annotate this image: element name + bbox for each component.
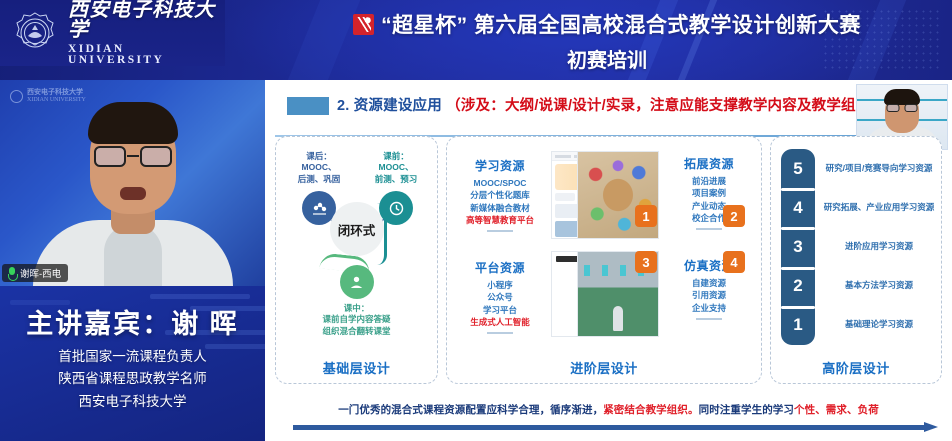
slide-header: 2. 资源建设应用 （涉及：大纲/说课/设计/实录，注意应能支撑教学内容及教学组… bbox=[265, 88, 952, 128]
top-banner: 西安电子科技大学 XIDIAN UNIVERSITY “超星杯” 第六届全国高校… bbox=[0, 0, 952, 80]
video-background-logo: 西安电子科技大学XIDIAN UNIVERSITY bbox=[10, 88, 86, 105]
speaker-lower-third: 主讲嘉宾：谢 晖 首批国家一流课程负责人 陕西省课程思政教学名师 西安电子科技大… bbox=[0, 286, 265, 441]
resource-group-items: 自建资源 引用资源 企业支持 bbox=[663, 277, 755, 314]
facecam-glasses-icon bbox=[887, 104, 918, 113]
level-number: 2 bbox=[781, 267, 815, 306]
resource-group-title: 学习资源 bbox=[453, 157, 547, 174]
university-seal-icon bbox=[12, 10, 58, 56]
footer-part-4: 个性、需求、负荷 bbox=[794, 404, 879, 416]
footer-arrow-icon bbox=[275, 423, 942, 431]
microphone-icon bbox=[7, 267, 16, 280]
thumbnail-badge: 1 bbox=[635, 205, 657, 227]
level-pyramid: 5 4 3 2 1 bbox=[781, 149, 815, 345]
slide-header-chip bbox=[287, 97, 329, 115]
screen: 西安电子科技大学 XIDIAN UNIVERSITY “超星杯” 第六届全国高校… bbox=[0, 0, 952, 441]
resource-divider bbox=[696, 228, 722, 230]
resource-grid: 学习资源 MOOC/SPOC 分层个性化题库 新媒体融合教材 高等智慧教育平台 … bbox=[453, 141, 755, 359]
thumbnail-badge: 2 bbox=[723, 205, 745, 227]
speaker-figure bbox=[33, 106, 233, 286]
event-title-line-1: “超星杯” 第六届全国高校混合式教学设计创新大赛 bbox=[353, 9, 861, 39]
resource-thumbnails: 1 2 3 4 bbox=[551, 147, 659, 359]
level-label: 进阶应用学习资源 bbox=[821, 241, 937, 251]
thumbnail-badge: 3 bbox=[635, 251, 657, 273]
slide-panels: 课后： MOOC、 后测、巩固 课前： MOOC、 前测、预习 bbox=[275, 136, 942, 384]
slide-footer: 一门优秀的混合式课程资源配置应科学合理，循序渐进，紧密结合教学组织。同时注重学生… bbox=[275, 402, 942, 431]
loop-label-during: 课中： 课前自学内容答疑 组织混合翻转课堂 bbox=[287, 303, 427, 337]
speaker-glasses-icon bbox=[94, 146, 172, 168]
clock-icon bbox=[379, 191, 413, 225]
panel-basic-label: 基础层设计 bbox=[276, 358, 437, 377]
presentation-slide[interactable]: 2. 资源建设应用 （涉及：大纲/说课/设计/实录，注意应能支撑教学内容及教学组… bbox=[265, 80, 952, 441]
university-name-en: XIDIAN UNIVERSITY bbox=[68, 44, 225, 67]
resource-divider bbox=[696, 318, 722, 320]
credential-line: 陕西省课程思政教学名师 bbox=[0, 368, 265, 390]
level-number: 3 bbox=[781, 227, 815, 266]
participant-name: 谢晖-西电 bbox=[20, 266, 61, 280]
resource-group-platform: 平台资源 小程序 公众号 学习平台 生成式人工智能 bbox=[453, 259, 547, 334]
panel-high-layer: 5 4 3 2 1 研究/项目/竞赛导向学习资源 研究拓展、产业应用学习资源 进… bbox=[770, 136, 942, 384]
panel-basic-layer: 课后： MOOC、 后测、巩固 课前： MOOC、 前测、预习 bbox=[275, 136, 438, 384]
speaker-mouth bbox=[120, 187, 146, 200]
level-label: 基础理论学习资源 bbox=[821, 319, 937, 329]
thumbnail-badge: 4 bbox=[723, 251, 745, 273]
university-name-group: 西安电子科技大学 XIDIAN UNIVERSITY bbox=[68, 0, 225, 67]
footer-part-2: 紧密结合教学组织。 bbox=[603, 404, 698, 416]
resource-divider bbox=[487, 332, 513, 334]
loop-label-before: 课前： MOOC、 前测、预习 bbox=[363, 151, 429, 185]
resource-divider bbox=[487, 230, 513, 232]
closed-loop-diagram: 课后： MOOC、 后测、巩固 课前： MOOC、 前测、预习 bbox=[276, 143, 437, 339]
footer-part-3: 同时注重学生的学习 bbox=[699, 404, 794, 416]
resource-highlight: 高等智慧教育平台 bbox=[453, 214, 547, 226]
speaker-panel: 西安电子科技大学XIDIAN UNIVERSITY 谢晖-西电 bbox=[0, 80, 265, 441]
level-number: 4 bbox=[781, 188, 815, 227]
panel-advanced-layer: 学习资源 MOOC/SPOC 分层个性化题库 新媒体融合教材 高等智慧教育平台 … bbox=[446, 136, 762, 384]
level-number: 5 bbox=[781, 149, 815, 188]
person-icon bbox=[340, 265, 374, 299]
slide-title: 2. 资源建设应用 （涉及：大纲/说课/设计/实录，注意应能支撑教学内容及教学组… bbox=[337, 94, 885, 115]
speaker-hair bbox=[88, 102, 178, 144]
event-title-sub: 初赛培训 bbox=[567, 44, 647, 73]
resource-group-items: 小程序 公众号 学习平台 生成式人工智能 bbox=[453, 279, 547, 328]
event-title-block: “超星杯” 第六届全国高校混合式教学设计创新大赛 初赛培训 bbox=[262, 6, 952, 76]
university-name-cn: 西安电子科技大学 bbox=[68, 0, 225, 40]
event-title-main: “超星杯” 第六届全国高校混合式教学设计创新大赛 bbox=[381, 9, 861, 39]
resource-group-items: MOOC/SPOC 分层个性化题库 新媒体融合教材 高等智慧教育平台 bbox=[453, 177, 547, 226]
resource-highlight: 生成式人工智能 bbox=[453, 316, 547, 328]
resource-group-learning: 学习资源 MOOC/SPOC 分层个性化题库 新媒体融合教材 高等智慧教育平台 bbox=[453, 157, 547, 232]
level-number: 1 bbox=[781, 306, 815, 345]
level-label: 研究拓展、产业应用学习资源 bbox=[821, 202, 937, 212]
resource-group-title: 平台资源 bbox=[453, 259, 547, 276]
credential-line: 西安电子科技大学 bbox=[0, 391, 265, 413]
speaker-video-feed[interactable]: 西安电子科技大学XIDIAN UNIVERSITY 谢晖-西电 bbox=[0, 80, 265, 286]
slide-title-note: （涉及：大纲/说课/设计/实录，注意应能支撑教学内容及教学组织） bbox=[446, 98, 885, 114]
slide-footer-text: 一门优秀的混合式课程资源配置应科学合理，循序渐进，紧密结合教学组织。同时注重学生… bbox=[275, 402, 942, 417]
slide-title-index: 2. 资源建设应用 bbox=[337, 98, 442, 114]
university-logo-block: 西安电子科技大学 XIDIAN UNIVERSITY bbox=[0, 0, 225, 66]
panel-high-label: 高阶层设计 bbox=[771, 358, 941, 377]
resource-group-title: 拓展资源 bbox=[663, 155, 755, 172]
loop-label-after: 课后： MOOC、 后测、巩固 bbox=[286, 151, 352, 185]
participant-name-chip: 谢晖-西电 bbox=[2, 264, 68, 282]
speaker-credentials: 首批国家一流课程负责人 陕西省课程思政教学名师 西安电子科技大学 bbox=[0, 346, 265, 413]
chaoxing-logo-icon bbox=[353, 14, 374, 35]
credential-line: 首批国家一流课程负责人 bbox=[0, 346, 265, 368]
level-label: 研究/项目/竞赛导向学习资源 bbox=[821, 163, 937, 173]
panel-advanced-label: 进阶层设计 bbox=[447, 358, 761, 377]
video-bg-seal-icon bbox=[10, 90, 23, 103]
guest-name: 主讲嘉宾：谢 晖 bbox=[0, 302, 265, 341]
video-bg-logo-text: 西安电子科技大学XIDIAN UNIVERSITY bbox=[27, 88, 86, 105]
loop-center-label: 闭环式 bbox=[330, 202, 384, 256]
level-labels: 研究/项目/竞赛导向学习资源 研究拓展、产业应用学习资源 进阶应用学习资源 基本… bbox=[821, 149, 937, 345]
level-label: 基本方法学习资源 bbox=[821, 280, 937, 290]
footer-part-1: 一门优秀的混合式课程资源配置应科学合理，循序渐进， bbox=[338, 404, 603, 416]
